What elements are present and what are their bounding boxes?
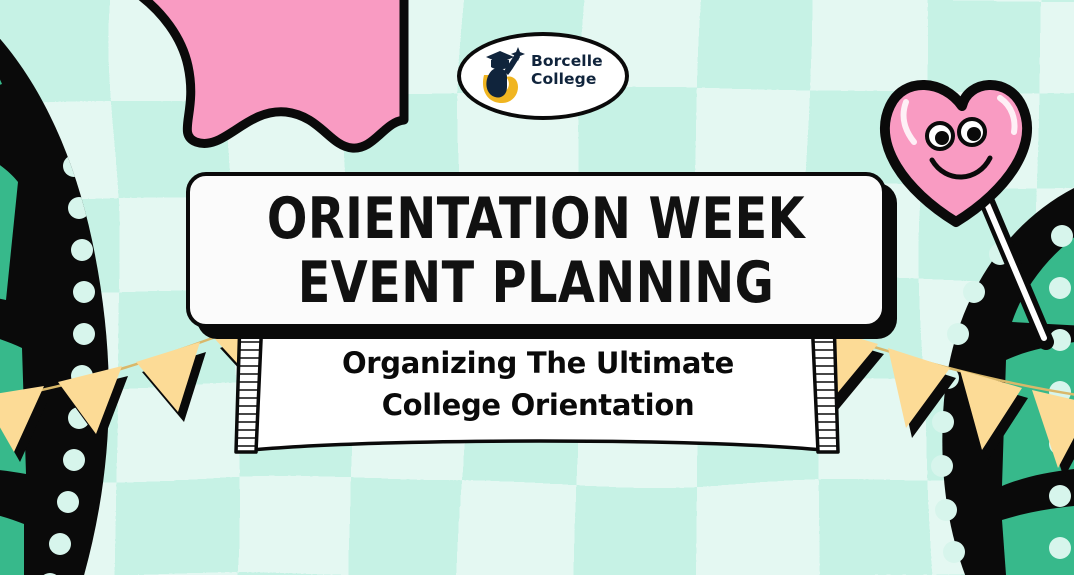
title-card: ORIENTATION WEEK EVENT PLANNING — [186, 172, 886, 328]
page-title: ORIENTATION WEEK EVENT PLANNING — [214, 188, 858, 316]
logo-text: Borcelle College — [531, 52, 621, 89]
graduate-figure-icon — [474, 45, 530, 107]
title-line-2: EVENT PLANNING — [214, 252, 858, 316]
subtitle-text: Organizing The Ultimate College Orientat… — [238, 342, 838, 426]
subtitle-line-2: College Orientation — [238, 384, 838, 426]
logo-line-1: Borcelle — [531, 52, 621, 70]
title-line-1: ORIENTATION WEEK — [214, 188, 858, 252]
logo-line-2: College — [531, 70, 621, 88]
logo-badge: Borcelle College — [457, 32, 629, 120]
subtitle-block: Organizing The Ultimate College Orientat… — [238, 312, 838, 460]
subtitle-line-1: Organizing The Ultimate — [238, 342, 838, 384]
poster-canvas: Organizing The Ultimate College Orientat… — [0, 0, 1074, 575]
